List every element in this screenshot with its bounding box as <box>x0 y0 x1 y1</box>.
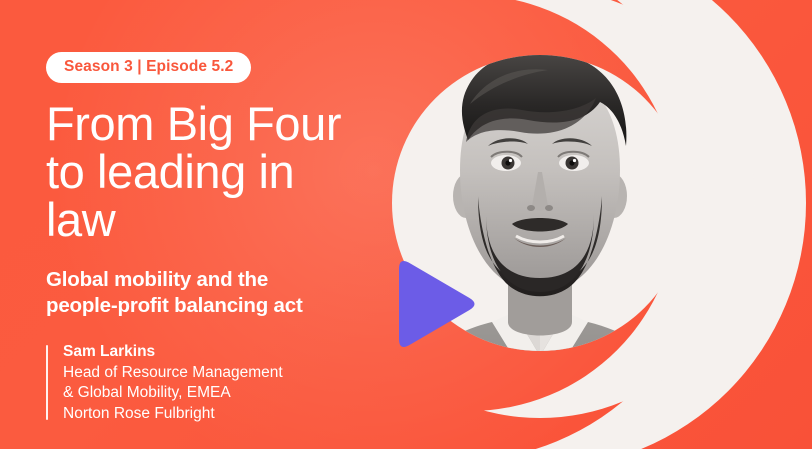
podcast-episode-card: Season 3 | Episode 5.2 From Big Four to … <box>0 0 812 449</box>
speaker-company: Norton Rose Fulbright <box>63 404 426 424</box>
episode-text-column: Season 3 | Episode 5.2 From Big Four to … <box>46 52 426 424</box>
speaker-block: Sam Larkins Head of Resource Management … <box>46 342 426 424</box>
speaker-role-line-1: Head of Resource Management <box>63 363 426 383</box>
speaker-divider <box>46 345 48 420</box>
speaker-role-line-2: & Global Mobility, EMEA <box>63 383 426 403</box>
speaker-name: Sam Larkins <box>63 342 426 362</box>
page-title: From Big Four to leading in law <box>46 100 376 245</box>
episode-subtitle: Global mobility and the people-profit ba… <box>46 267 376 319</box>
episode-badge: Season 3 | Episode 5.2 <box>46 52 251 83</box>
